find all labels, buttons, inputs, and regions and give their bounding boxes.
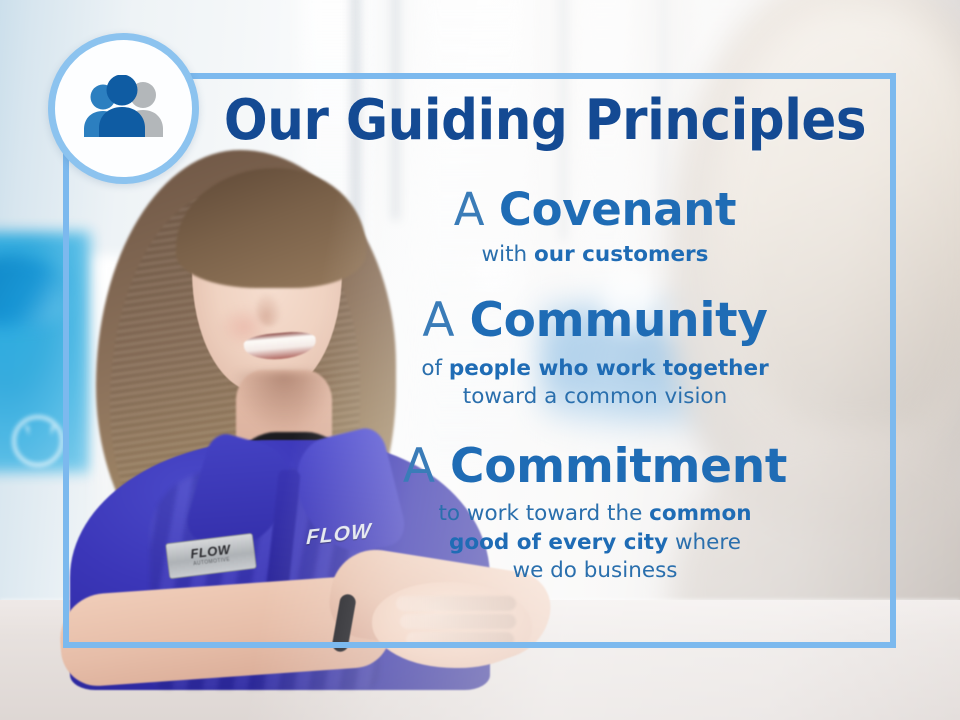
principle-community: A Community of people who work togethert… [300, 296, 890, 412]
principle-subtext: of people who work togethertoward a comm… [300, 355, 890, 412]
principle-subtext: to work toward the commongood of every c… [300, 500, 890, 585]
page-title: Our Guiding Principles [182, 93, 909, 149]
principle-covenant: A Covenant with our customers [300, 186, 890, 269]
guiding-principles-banner: FLOW FLOW AUTOMOTIVE [0, 0, 960, 720]
plain-text: of [421, 356, 449, 381]
principle-commitment: A Commitment to work toward the commongo… [300, 442, 890, 586]
emphasis-text: people who work together [449, 356, 769, 381]
plain-text: with [482, 242, 534, 267]
principle-article: A [454, 183, 485, 236]
principle-keyword: Covenant [499, 183, 736, 236]
principle-title: A Covenant [300, 186, 890, 234]
principles-list: A Covenant with our customers A Communit… [300, 186, 890, 592]
principle-article: A [403, 439, 435, 494]
people-group-icon [76, 75, 172, 143]
emphasis-text: common [649, 501, 751, 526]
principle-article: A [422, 293, 454, 348]
principle-keyword: Commitment [450, 439, 787, 494]
principle-subtext: with our customers [300, 241, 890, 269]
principle-keyword: Community [469, 293, 767, 348]
principle-title: A Community [300, 296, 890, 346]
emphasis-text: our customers [534, 242, 708, 267]
plain-text: toward a common vision [463, 384, 727, 409]
plain-text: to work toward the [438, 501, 649, 526]
plain-text: where [668, 530, 741, 555]
people-badge [48, 33, 199, 184]
principle-title: A Commitment [300, 442, 890, 492]
emphasis-text: good of every city [449, 530, 668, 555]
plain-text: we do business [513, 558, 678, 583]
